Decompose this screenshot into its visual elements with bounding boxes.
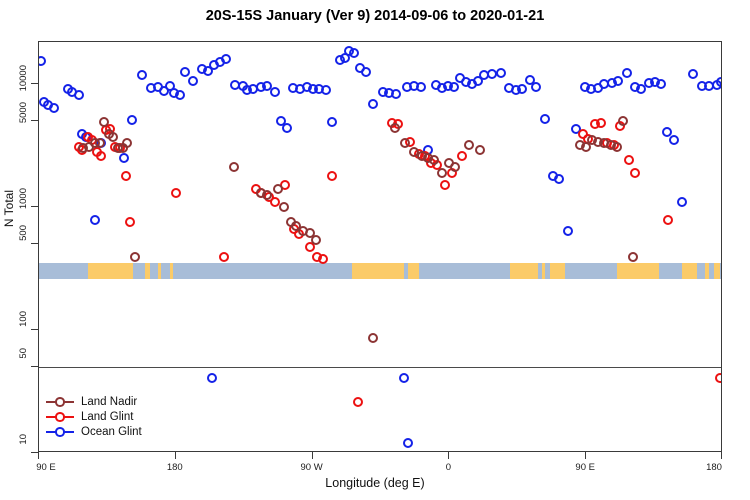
orbit-band-segment	[542, 263, 545, 279]
y-axis-tick-label: 1000	[19, 188, 29, 209]
data-point-glint	[327, 171, 337, 181]
legend-ocean-glint[interactable]: Ocean Glint	[46, 424, 142, 439]
data-point-glint	[219, 252, 229, 262]
y-axis-tick	[31, 329, 38, 330]
x-axis-tick-label: 0	[446, 462, 451, 473]
data-point-nadir	[390, 123, 400, 133]
data-point-nadir	[464, 140, 474, 150]
data-point-ocean	[188, 76, 198, 86]
legend-land-glint[interactable]: Land Glint	[46, 409, 142, 424]
x-axis-tick	[448, 452, 449, 459]
data-point-glint	[596, 118, 606, 128]
data-point-ocean	[368, 99, 378, 109]
data-point-ocean	[221, 54, 231, 64]
y-axis-tick	[31, 206, 38, 207]
y-axis-tick	[31, 452, 38, 453]
data-point-ocean	[688, 69, 698, 79]
y-axis-tick	[31, 120, 38, 121]
data-point-ocean	[270, 87, 280, 97]
x-axis-tick	[175, 452, 176, 459]
data-point-ocean	[127, 115, 137, 125]
chart-title: 20S-15S January (Ver 9) 2014-09-06 to 20…	[0, 8, 750, 24]
data-point-ocean	[119, 153, 129, 163]
y-axis-tick-label: 50	[19, 348, 29, 359]
orbit-band-segment	[88, 263, 134, 279]
chart-legend: Land NadirLand GlintOcean Glint	[46, 394, 142, 439]
x-axis-tick-label: 180	[706, 462, 722, 473]
data-point-ocean	[391, 89, 401, 99]
legend-label: Land Glint	[81, 411, 133, 423]
data-point-ocean	[180, 67, 190, 77]
x-axis-tick	[721, 452, 722, 459]
orbit-band-segment	[145, 263, 150, 279]
data-point-ocean	[38, 56, 46, 66]
data-point-glint	[318, 254, 328, 264]
y-axis-tick-label: 10	[19, 434, 29, 445]
data-point-glint	[96, 151, 106, 161]
legend-dot-icon	[55, 397, 65, 407]
data-point-nadir	[628, 252, 638, 262]
data-point-glint	[121, 171, 131, 181]
data-point-glint	[630, 168, 640, 178]
plot-area[interactable]	[38, 41, 722, 452]
data-point-ocean	[677, 197, 687, 207]
data-point-ocean	[282, 123, 292, 133]
x-axis-tick	[38, 452, 39, 459]
y-axis-tick	[31, 243, 38, 244]
orbit-coverage-band	[39, 263, 721, 279]
data-point-nadir	[311, 235, 321, 245]
data-point-nadir	[108, 132, 118, 142]
data-point-ocean	[327, 117, 337, 127]
data-point-nadir	[279, 202, 289, 212]
orbit-band-segment	[682, 263, 697, 279]
orbit-band-segment	[158, 263, 161, 279]
legend-label: Land Nadir	[81, 396, 137, 408]
y-axis-tick	[31, 366, 38, 367]
data-point-ocean	[622, 68, 632, 78]
data-point-ocean	[540, 114, 550, 124]
data-point-ocean	[716, 77, 722, 87]
legend-label: Ocean Glint	[81, 426, 142, 438]
x-axis-tick-label: 90 E	[36, 462, 56, 473]
y-axis-tick-label: 500	[19, 225, 29, 241]
orbit-band-segment	[170, 263, 173, 279]
data-point-nadir	[618, 116, 628, 126]
data-point-ocean	[416, 82, 426, 92]
data-point-ocean	[49, 103, 59, 113]
legend-land-nadir[interactable]: Land Nadir	[46, 394, 142, 409]
orbit-band-segment	[617, 263, 660, 279]
data-point-glint	[171, 188, 181, 198]
orbit-band-segment	[550, 263, 565, 279]
legend-marker-icon	[46, 411, 74, 423]
orbit-band-segment	[714, 263, 720, 279]
data-point-ocean	[496, 68, 506, 78]
data-point-nadir	[130, 252, 140, 262]
y-axis-tick-label: 100	[19, 311, 29, 327]
data-point-nadir	[400, 138, 410, 148]
data-point-nadir	[437, 168, 447, 178]
reference-line	[39, 367, 721, 368]
legend-dot-icon	[55, 427, 65, 437]
data-point-ocean	[137, 70, 147, 80]
orbit-band-segment	[510, 263, 537, 279]
legend-marker-icon	[46, 426, 74, 438]
x-axis-tick	[312, 452, 313, 459]
y-axis-tick-label: 10000	[19, 65, 29, 91]
legend-marker-icon	[46, 396, 74, 408]
data-point-nadir	[229, 162, 239, 172]
data-point-glint	[715, 373, 722, 383]
data-point-ocean	[361, 67, 371, 77]
data-point-nadir	[450, 162, 460, 172]
x-axis-tick-label: 180	[167, 462, 183, 473]
data-point-ocean	[669, 135, 679, 145]
x-axis-tick-label: 90 W	[301, 462, 323, 473]
orbit-band-segment	[705, 263, 710, 279]
data-point-ocean	[449, 82, 459, 92]
data-point-ocean	[74, 90, 84, 100]
data-point-nadir	[475, 145, 485, 155]
data-point-ocean	[90, 215, 100, 225]
data-point-glint	[440, 180, 450, 190]
data-point-ocean	[656, 79, 666, 89]
data-point-nadir	[612, 142, 622, 152]
data-point-ocean	[207, 373, 217, 383]
data-point-ocean	[403, 438, 413, 448]
data-point-ocean	[175, 90, 185, 100]
x-axis-tick	[585, 452, 586, 459]
chart-root: 20S-15S January (Ver 9) 2014-09-06 to 20…	[0, 0, 750, 500]
y-axis: 10501005001000500010000	[0, 41, 38, 452]
data-point-ocean	[399, 373, 409, 383]
data-point-glint	[663, 215, 673, 225]
x-axis-title: Longitude (deg E)	[0, 476, 750, 490]
data-point-ocean	[563, 226, 573, 236]
y-axis-tick-label: 5000	[19, 102, 29, 123]
data-point-glint	[125, 217, 135, 227]
data-point-nadir	[273, 184, 283, 194]
data-point-ocean	[349, 48, 359, 58]
data-point-glint	[457, 151, 467, 161]
data-point-nadir	[368, 333, 378, 343]
legend-dot-icon	[55, 412, 65, 422]
data-point-ocean	[554, 174, 564, 184]
data-point-ocean	[613, 76, 623, 86]
data-point-ocean	[321, 85, 331, 95]
x-axis-tick-label: 90 E	[575, 462, 595, 473]
orbit-band-segment	[352, 263, 404, 279]
data-point-ocean	[517, 84, 527, 94]
data-point-nadir	[122, 138, 132, 148]
data-point-ocean	[531, 82, 541, 92]
data-point-glint	[353, 397, 363, 407]
y-axis-tick	[31, 83, 38, 84]
data-point-glint	[624, 155, 634, 165]
orbit-band-segment	[408, 263, 419, 279]
